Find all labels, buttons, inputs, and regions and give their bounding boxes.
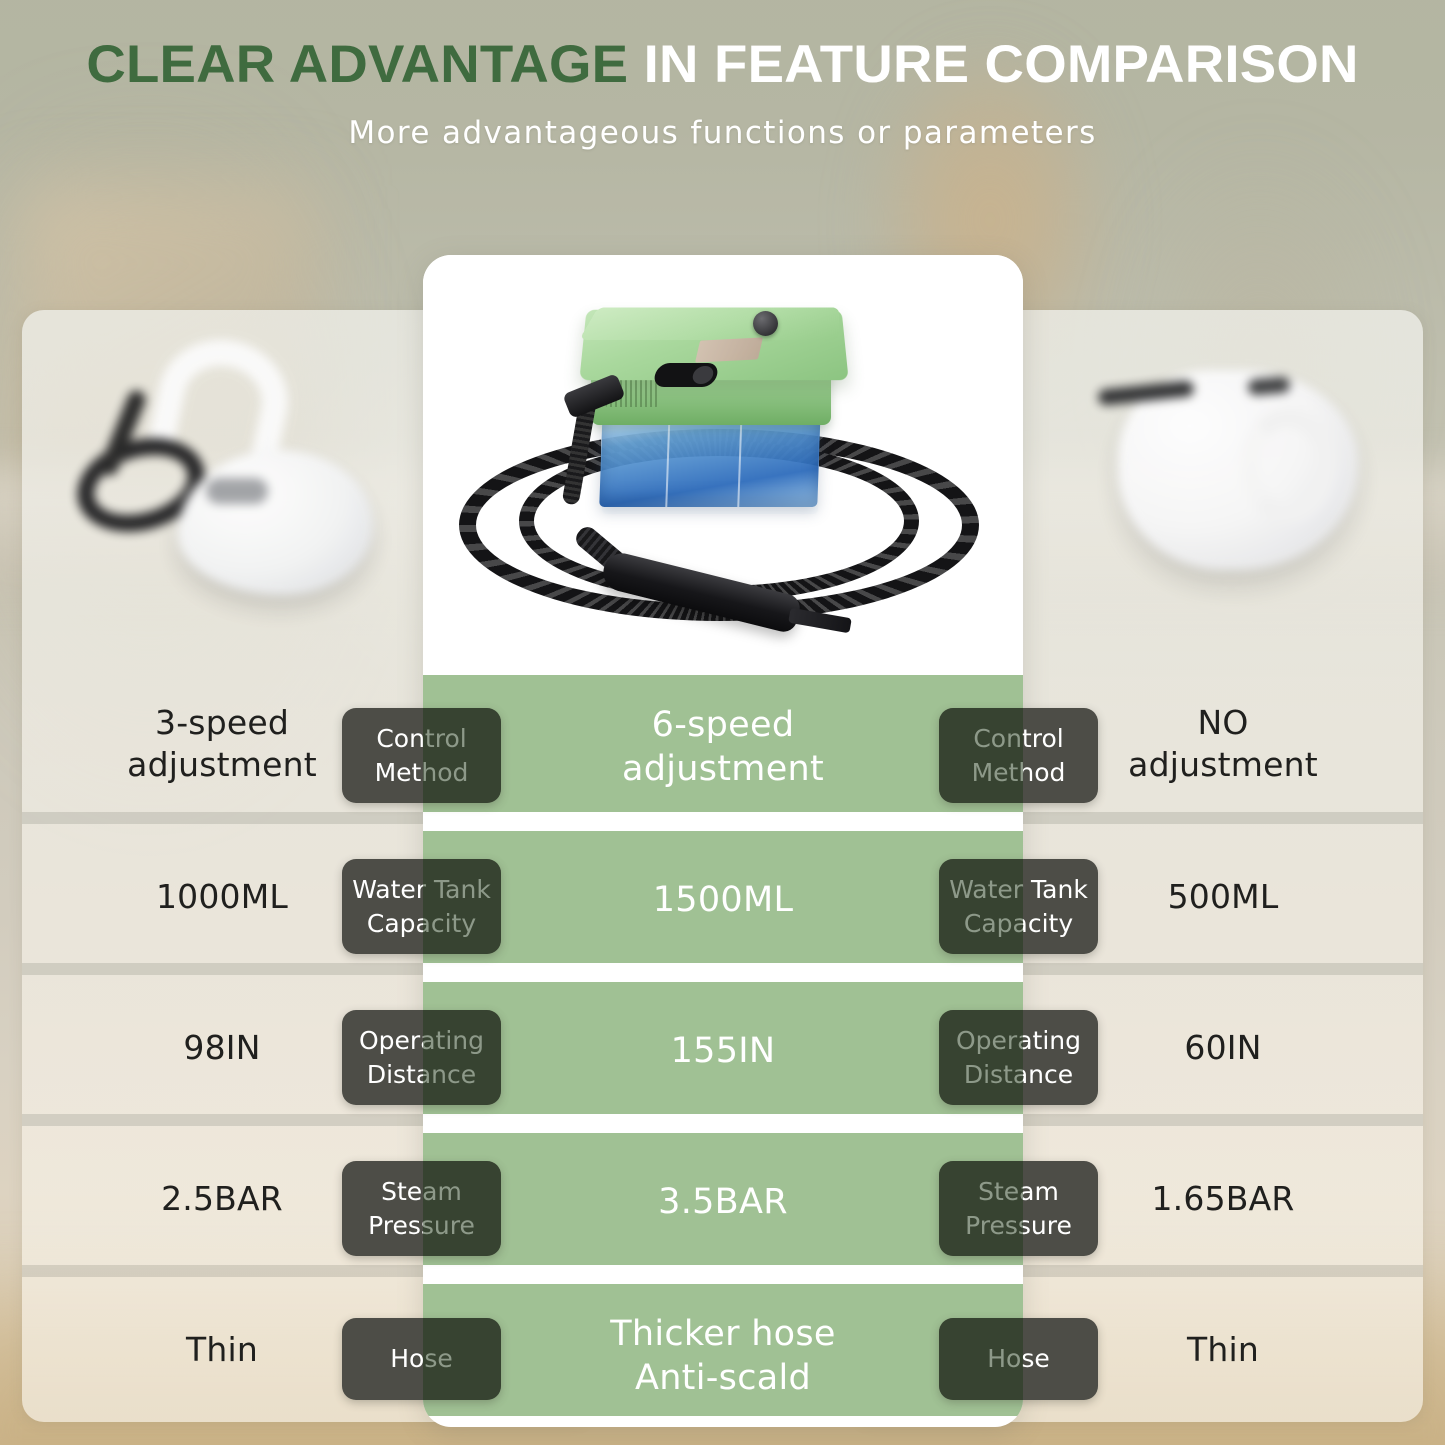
table-row: 3-speed adjustment Control Method 6-spee… [0,675,1445,812]
cell-right-4-value: 1.65BAR [1151,1178,1294,1220]
title-rest: IN FEATURE COMPARISON [644,35,1359,94]
cell-right-3-value: 60IN [1184,1027,1261,1069]
row-divider-left-3 [22,1114,423,1126]
page-subtitle: More advantageous functions or parameter… [0,115,1445,151]
cell-right-3: 60IN [1023,982,1423,1114]
featured-product-image [423,255,1023,675]
cell-right-1-line1: NO [1128,702,1318,744]
cell-left-2-value: 1000ML [156,876,288,918]
machine-rating-label [695,337,763,362]
cell-left-4-value: 2.5BAR [161,1178,283,1220]
table-row: 2.5BAR Steam Pressure 3.5BAR Steam Press… [0,1133,1445,1265]
cell-center-1: 6-speed adjustment [423,703,1023,791]
cell-center-3-value: 155IN [423,1029,1023,1073]
cell-right-4: 1.65BAR [1023,1133,1423,1265]
cell-center-1-line2: adjustment [423,747,1023,791]
right-product-grip [1240,408,1336,524]
cell-left-1-line1: 3-speed [127,702,317,744]
row-divider-right-2 [1022,963,1423,975]
cell-center-5-line2: Anti-scald [423,1356,1023,1400]
machine-control-knob [753,311,778,336]
cell-center-4: 3.5BAR [423,1180,1023,1224]
cell-left-5-value: Thin [186,1329,258,1371]
row-divider-left-2 [22,963,423,975]
cell-center-2-value: 1500ML [423,878,1023,922]
table-row: Thin Hose Thicker hose Anti-scald Hose T… [0,1284,1445,1416]
row-divider-left-4 [22,1265,423,1277]
row-divider-right-1 [1022,812,1423,824]
machine-lid [579,307,839,340]
cell-right-5-value: Thin [1187,1329,1259,1371]
cell-center-3: 155IN [423,1029,1023,1073]
title-highlight: CLEAR ADVANTAGE [86,35,628,94]
header: CLEAR ADVANTAGE IN FEATURE COMPARISON Mo… [0,0,1445,151]
cell-left-1-line2: adjustment [127,744,317,786]
competitor-right-product-image [1070,330,1400,670]
cell-right-1-line2: adjustment [1128,744,1318,786]
cell-right-2-value: 500ML [1168,876,1279,918]
table-row: 1000ML Water Tank Capacity 1500ML Water … [0,831,1445,963]
cell-right-5: Thin [1023,1284,1423,1416]
steam-cleaner-illustration [423,255,1023,675]
cell-center-4-value: 3.5BAR [423,1180,1023,1224]
left-product-body [178,450,373,595]
cell-center-5-line1: Thicker hose [423,1312,1023,1356]
comparison-board: 3-speed adjustment Control Method 6-spee… [0,0,1445,1445]
row-divider-right-4 [1022,1265,1423,1277]
cell-center-1-line1: 6-speed [423,703,1023,747]
cell-left-3-value: 98IN [183,1027,260,1069]
cell-right-2: 500ML [1023,831,1423,963]
machine-hose-port [652,363,720,387]
competitor-left-product-image [48,330,378,670]
cell-right-1: NO adjustment [1023,675,1423,812]
table-row: 98IN Operating Distance 155IN Operating … [0,982,1445,1114]
page-title: CLEAR ADVANTAGE IN FEATURE COMPARISON [0,0,1445,91]
cell-center-5: Thicker hose Anti-scald [423,1312,1023,1400]
cell-center-2: 1500ML [423,878,1023,922]
row-divider-left-1 [22,812,423,824]
row-divider-right-3 [1022,1114,1423,1126]
